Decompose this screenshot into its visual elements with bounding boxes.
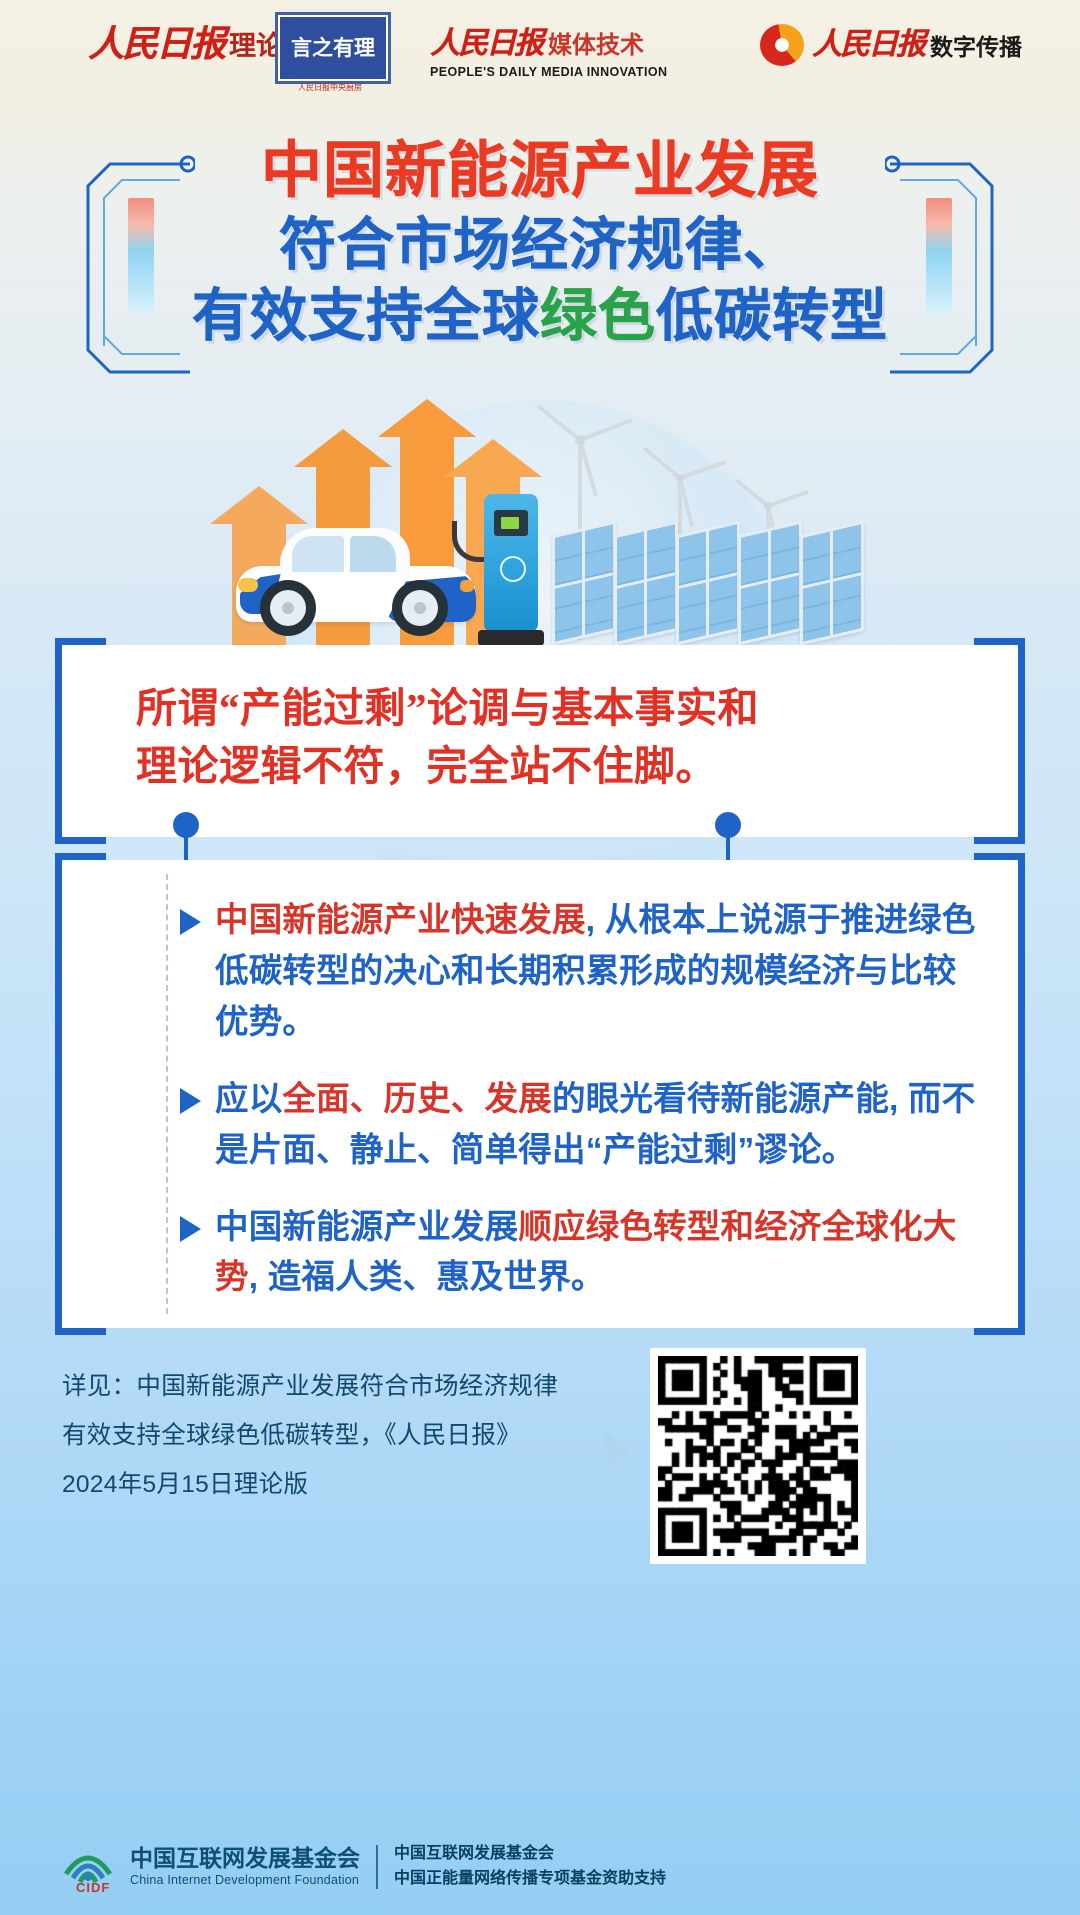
- digital-comm-cn: 数字传播: [930, 28, 1022, 62]
- source-reference: 详见：中国新能源产业发展符合市场经济规律 有效支持全球绿色低碳转型，《人民日报》…: [62, 1362, 622, 1509]
- headline-line-3: 有效支持全球绿色低碳转型: [0, 288, 1080, 345]
- electric-car-icon: [236, 524, 476, 636]
- source-line-3: 2024年5月15日理论版: [62, 1460, 622, 1509]
- list-item: 中国新能源产业快速发展, 从根本上说源于推进绿色低碳转型的决心和长期积累形成的规…: [180, 896, 976, 1049]
- headline-line-1: 中国新能源产业发展: [0, 140, 1080, 201]
- charger-body: [484, 494, 538, 632]
- cidf-logo-icon: CIDF: [62, 1844, 114, 1890]
- connector-dot-left-top: [173, 812, 199, 838]
- footer-sponsor: CIDF 中国互联网发展基金会 China Internet Developme…: [62, 1842, 666, 1892]
- charger-base: [478, 630, 544, 646]
- headline-line-3-green: 绿色: [540, 284, 656, 348]
- list-item-text: 中国新能源产业发展顺应绿色转型和经济全球化大势, 造福人类、惠及世界。: [215, 1203, 976, 1305]
- headline-line-2: 符合市场经济规律、: [0, 217, 1080, 274]
- media-innovation-en: PEOPLE'S DAILY MEDIA INNOVATION: [430, 65, 667, 79]
- source-line-2: 有效支持全球绿色低碳转型，《人民日报》: [62, 1411, 622, 1460]
- qr-code-image: [658, 1356, 858, 1556]
- arrow-right-icon: [604, 1430, 630, 1474]
- list-item: 应以全面、历史、发展的眼光看待新能源产能, 而不是片面、静止、简单得出“产能过剩…: [180, 1075, 976, 1177]
- triangle-right-icon: [180, 1088, 201, 1114]
- source-line-1: 详见：中国新能源产业发展符合市场经济规律: [62, 1362, 622, 1411]
- footer-divider: [376, 1845, 378, 1889]
- swirl-icon: [760, 24, 804, 66]
- infographic-poster: 人民日报 理论 言之有理 人民日报中央厨房 人民日报 媒体技术 PEOPLE'S…: [0, 0, 1080, 1915]
- list-item: 中国新能源产业发展顺应绿色转型和经济全球化大势, 造福人类、惠及世界。: [180, 1203, 976, 1305]
- cidf-name-en: China Internet Development Foundation: [130, 1873, 360, 1887]
- logo-media-innovation[interactable]: 人民日报 媒体技术 PEOPLE'S DAILY MEDIA INNOVATIO…: [430, 25, 667, 79]
- cidf-name-cn: 中国互联网发展基金会: [130, 1846, 360, 1870]
- footer-note: 中国互联网发展基金会 中国正能量网络传播专项基金资助支持: [394, 1842, 666, 1892]
- charger-screen: [494, 510, 528, 536]
- headline-line-3-part-b: 低碳转型: [656, 284, 888, 348]
- quote-line-2: 理论逻辑不符，完全站不住脚。: [136, 737, 978, 795]
- charger-power-icon: [500, 556, 526, 582]
- key-quote-card: 所谓“产能过剩”论调与基本事实和 理论逻辑不符，完全站不住脚。: [62, 645, 1018, 837]
- triangle-right-icon: [180, 1216, 201, 1242]
- media-innovation-cn: 媒体技术: [548, 25, 644, 60]
- logo-digital-communication[interactable]: 人民日报 数字传播: [760, 24, 1022, 66]
- yanzhiyouli-seal-text: 言之有理: [291, 38, 375, 59]
- poster-headline: 中国新能源产业发展 符合市场经济规律、 有效支持全球绿色低碳转型: [0, 140, 1080, 345]
- cidf-abbrev: CIDF: [76, 1880, 110, 1895]
- energy-illustration: [0, 400, 1080, 650]
- yanzhiyouli-footnote: 人民日报中央厨房: [275, 82, 385, 93]
- key-points-card: 中国新能源产业快速发展, 从根本上说源于推进绿色低碳转型的决心和长期积累形成的规…: [62, 860, 1018, 1328]
- publisher-logo-bar: 人民日报 理论 言之有理 人民日报中央厨房 人民日报 媒体技术 PEOPLE'S…: [0, 0, 1080, 95]
- bullet-2-part-1: 应以: [215, 1081, 282, 1118]
- rmrb-masthead-calligraphy-2: 人民日报: [430, 29, 542, 59]
- key-quote-text: 所谓“产能过剩”论调与基本事实和 理论逻辑不符，完全站不住脚。: [136, 679, 978, 795]
- yanzhiyouli-seal: 言之有理: [275, 12, 391, 84]
- headline-line-3-part-a: 有效支持全球: [192, 284, 540, 348]
- bullet-1-part-1: 中国新能源产业快速发展: [215, 902, 586, 939]
- list-item-text: 中国新能源产业快速发展, 从根本上说源于推进绿色低碳转型的决心和长期积累形成的规…: [215, 896, 976, 1049]
- footer-note-line-2: 中国正能量网络传播专项基金资助支持: [394, 1867, 666, 1892]
- connector-dot-right-top: [715, 812, 741, 838]
- bullet-2-part-2: 全面、历史、发展: [282, 1081, 552, 1118]
- qr-code[interactable]: [650, 1348, 866, 1564]
- logo-yanzhiyouli[interactable]: 言之有理 人民日报中央厨房: [275, 12, 391, 84]
- list-item-text: 应以全面、历史、发展的眼光看待新能源产能, 而不是片面、静止、简单得出“产能过剩…: [215, 1075, 976, 1177]
- rmrb-masthead-calligraphy-3: 人民日报: [812, 30, 924, 60]
- footer-note-line-1: 中国互联网发展基金会: [394, 1842, 666, 1867]
- logo-rmrb-theory[interactable]: 人民日报 理论: [88, 24, 283, 63]
- bullet-3-part-3: , 造福人类、惠及世界。: [249, 1259, 605, 1296]
- dashed-guide-line: [166, 874, 168, 1314]
- triangle-right-icon: [180, 909, 201, 935]
- quote-line-1: 所谓“产能过剩”论调与基本事实和: [136, 679, 978, 737]
- rmrb-masthead-calligraphy: 人民日报: [88, 26, 224, 62]
- key-points-list: 中国新能源产业快速发展, 从根本上说源于推进绿色低碳转型的决心和长期积累形成的规…: [180, 896, 976, 1330]
- bullet-3-part-1: 中国新能源产业发展: [215, 1209, 518, 1246]
